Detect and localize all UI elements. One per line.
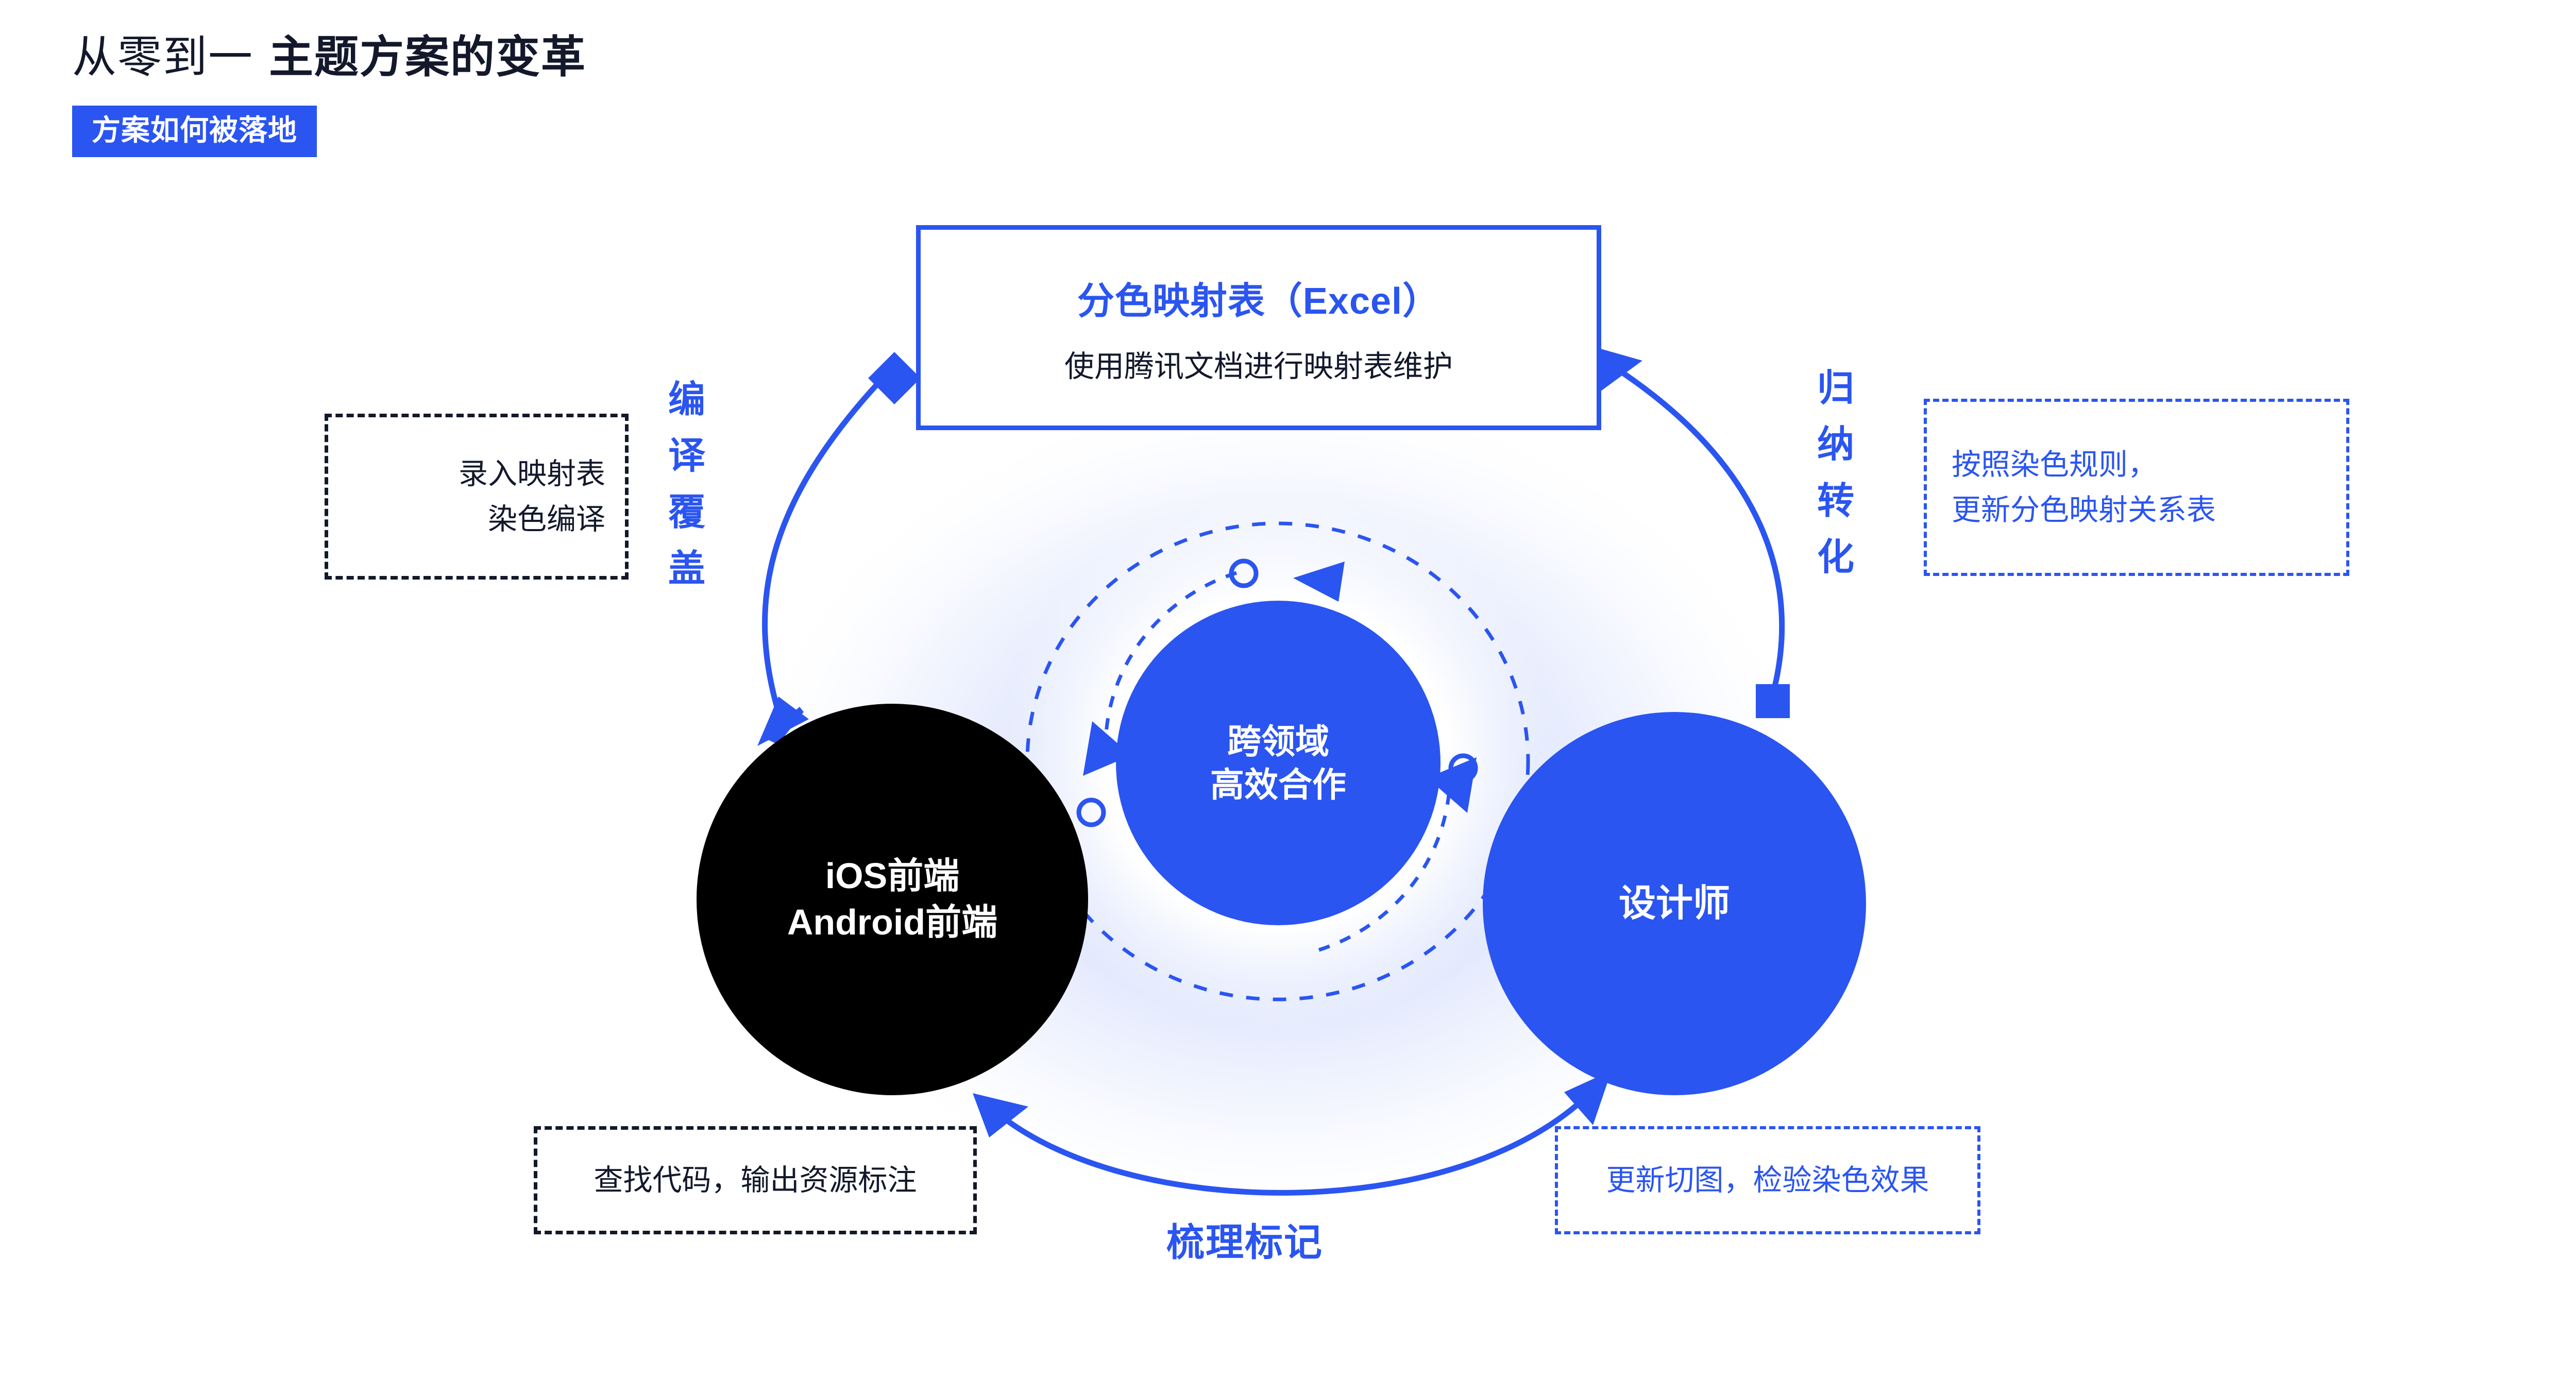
orbit-marker-right [1451,756,1476,780]
stage-label-organize-mark: 梳理标记 [1166,1212,1323,1267]
note-line: 录入映射表 [459,451,605,497]
note-line: 查找代码，输出资源标注 [594,1158,917,1203]
circle-developer: iOS前端 Android前端 [697,704,1088,1095]
orbit-arrow-top [1293,562,1345,602]
note-line: 按照染色规则， [1952,442,2157,487]
connector-designer-to-excel [1614,367,1782,696]
stage-label-compile-overwrite: 编 译 覆 盖 [664,372,710,598]
mapping-table-box: 分色映射表（Excel） 使用腾讯文档进行映射表维护 [916,225,1601,430]
mapping-table-title: 分色映射表（Excel） [1077,270,1440,325]
circle-collaboration-core: 跨领域 高效合作 [1116,601,1440,925]
connector-square-marker [1756,684,1790,718]
connector-excel-to-developer [765,373,887,716]
note-box-find-code: 查找代码，输出资源标注 [534,1126,977,1234]
note-line: 染色编译 [488,497,605,542]
orbit-marker-top [1231,561,1256,586]
mapping-table-subtitle: 使用腾讯文档进行映射表维护 [1064,342,1453,385]
connector-arrow-bottom-left [973,1093,1028,1137]
circle-designer: 设计师 [1483,712,1866,1095]
orbit-marker-left [1079,800,1104,825]
diagram-stage: 分色映射表（Excel） 使用腾讯文档进行映射表维护 编 译 覆 盖 归 纳 转… [0,0,2576,1393]
stage-label-summarize-convert: 归 纳 转 化 [1812,361,1859,586]
connector-designer-to-developer [993,1091,1592,1193]
note-line: 更新分色映射关系表 [1952,487,2216,533]
note-box-update-assets: 更新切图，检验染色效果 [1555,1126,1980,1234]
note-line: 更新切图，检验染色效果 [1606,1158,1929,1203]
connector-diamond-marker [868,352,921,404]
note-box-summarize: 按照染色规则， 更新分色映射关系表 [1924,399,2349,576]
note-box-compile: 录入映射表 染色编译 [325,414,629,580]
